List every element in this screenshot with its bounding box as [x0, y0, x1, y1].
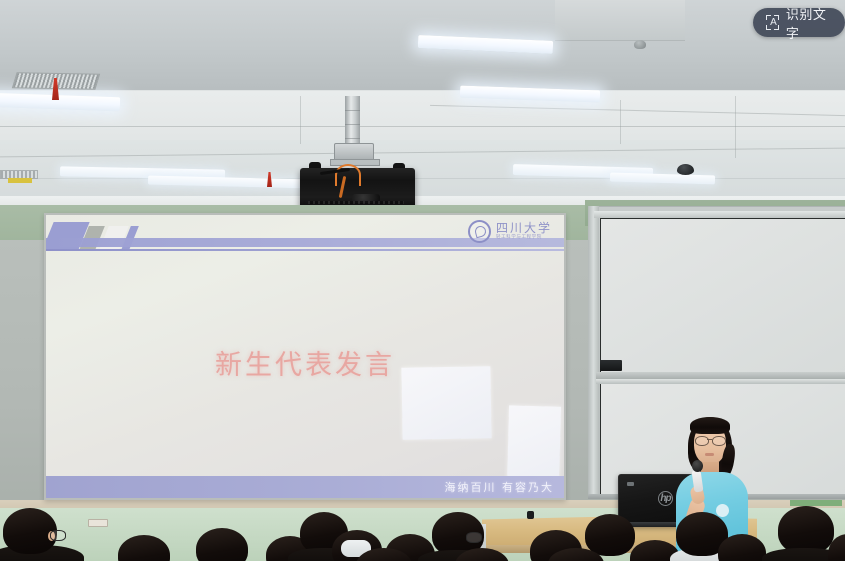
- audience-glasses: [50, 530, 66, 541]
- laptop-lid-detail: [627, 482, 634, 486]
- projector-rod-seam: [345, 124, 360, 125]
- speaker-glasses: [695, 436, 709, 446]
- ceiling-tile-seam: [735, 96, 736, 158]
- speaker-glasses: [712, 436, 726, 446]
- smoke-detector-icon: [634, 40, 646, 49]
- whiteboard-tray: [596, 372, 845, 379]
- whiteboard-green-trim: [790, 500, 842, 506]
- speaker-fringe: [690, 417, 730, 434]
- hp-logo-icon: hp: [658, 491, 673, 506]
- university-logo: 四川大学 轻工科学与工程学院: [468, 220, 552, 243]
- speaker-glasses-bridge: [707, 439, 712, 440]
- wall-socket: [88, 519, 108, 527]
- text-recognition-icon: A: [766, 15, 779, 30]
- recognize-text-button[interactable]: A 识别文字: [753, 8, 845, 37]
- ceiling-tile-seam: [0, 126, 845, 127]
- ceiling-tile-seam: [300, 96, 301, 144]
- recognize-text-label: 识别文字: [786, 4, 832, 42]
- whiteboard-top-rail: [594, 211, 845, 218]
- microphone-head: [692, 460, 703, 472]
- ceiling-label-tag: [8, 178, 32, 183]
- dome-speaker-icon: [677, 164, 694, 175]
- paper-sheet: [401, 366, 491, 440]
- ceiling-duct: [555, 0, 685, 41]
- audience-glasses: [466, 532, 482, 543]
- podium-microphone-base: [527, 511, 534, 519]
- projector-rod-seam: [345, 138, 360, 139]
- audience-head: [585, 514, 635, 556]
- projector-vent: [308, 201, 404, 204]
- ceiling-tile-seam: [0, 178, 845, 179]
- whiteboard-panel-upper[interactable]: [600, 218, 845, 376]
- screenshot-root: 四川大学 轻工科学与工程学院 新生代表发言 海纳百川 有容乃大 hp: [0, 0, 845, 561]
- projection-screen: 四川大学 轻工科学与工程学院 新生代表发言 海纳百川 有容乃大: [46, 215, 564, 498]
- speaker-shirt-graphic: [716, 504, 729, 517]
- slide-header-rule: [46, 249, 564, 251]
- audience-head: [778, 506, 834, 554]
- slide-footer-bar: 海纳百川 有容乃大: [46, 476, 564, 498]
- ceiling-tile-seam: [620, 100, 621, 144]
- speaker-mouth: [705, 453, 714, 456]
- whiteboard-eraser[interactable]: [600, 360, 622, 371]
- university-college-name: 轻工科学与工程学院: [496, 234, 552, 241]
- whiteboard-left-edge: [588, 206, 599, 496]
- slide-motto: 海纳百川 有容乃大: [445, 479, 555, 495]
- university-emblem-icon: [468, 220, 491, 243]
- projector-rod-seam: [345, 110, 360, 111]
- projector: [300, 168, 415, 210]
- university-name: 四川大学: [496, 222, 552, 234]
